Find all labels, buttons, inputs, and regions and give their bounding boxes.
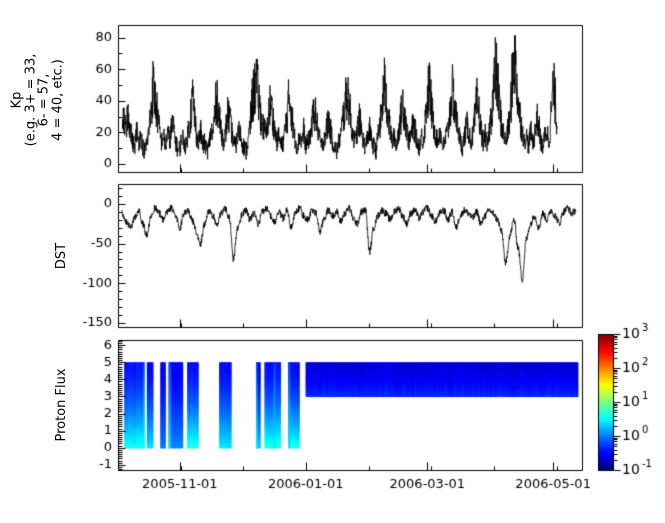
axis-label-line: Kp xyxy=(11,54,25,147)
figure-root: Kp(e.g. 3+ = 33,6- = 57,4 = 40, etc.) DS… xyxy=(0,0,665,523)
axis-label-line: 6- = 57, xyxy=(38,54,52,147)
axis-label-line: Proton Flux xyxy=(55,368,69,441)
dst-axis-label: DST xyxy=(55,243,69,269)
axis-label-line: (e.g. 3+ = 33, xyxy=(24,54,38,147)
axis-label-line: 4 = 40, etc.) xyxy=(52,54,66,147)
kp-axis-label: Kp(e.g. 3+ = 33,6- = 57,4 = 40, etc.) xyxy=(11,54,66,147)
plot-canvas xyxy=(0,0,665,523)
axis-label-line: DST xyxy=(55,243,69,269)
proton-flux-axis-label: Proton Flux xyxy=(55,368,69,441)
